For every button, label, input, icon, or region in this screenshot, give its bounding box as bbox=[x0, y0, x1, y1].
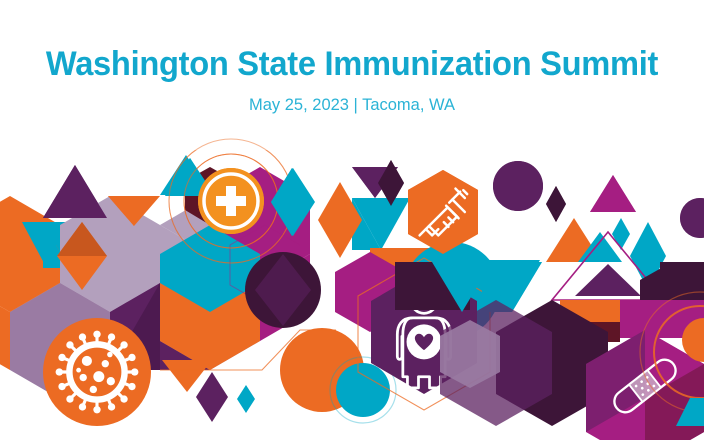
immunization-mosaic-banner bbox=[0, 0, 704, 440]
mosaic-svg bbox=[0, 0, 704, 440]
poster-canvas: Washington State Immunization Summit May… bbox=[0, 0, 704, 440]
